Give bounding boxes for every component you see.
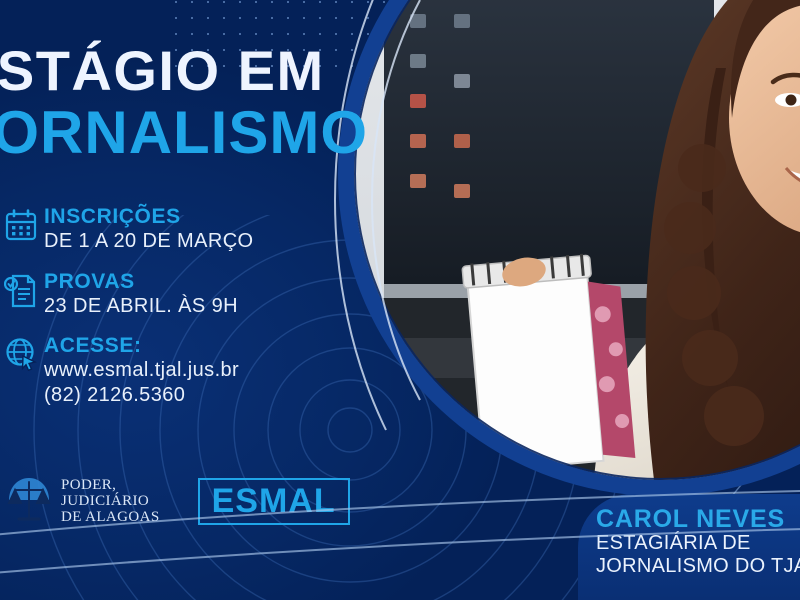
info-item-provas: PROVAS 23 DE ABRIL. ÀS 9H [4,270,344,319]
poder-judiciario-logo: PODER, JUDICIÁRIO DE ALAGOAS [6,476,160,526]
info-item-acesse: ACESSE: www.esmal.tjal.jus.br (82) 2126.… [4,334,344,407]
exam-document-icon [4,270,44,309]
person-role-line-2: JORNALISMO DO TJAL [596,555,800,578]
logo-group: PODER, JUDICIÁRIO DE ALAGOAS ESMAL [6,476,350,526]
person-name: CAROL NEVES [596,506,800,532]
info-subtitle: 23 DE ABRIL. ÀS 9H [44,294,344,318]
info-title: ACESSE: [44,334,344,358]
headline: ESTÁGIO EM JORNALISMO [0,44,478,163]
scales-of-justice-icon [6,476,52,526]
promotional-poster: ESTÁGIO EM JORNALISMO [0,0,800,600]
pj-line-2: JUDICIÁRIO [61,493,160,509]
globe-cursor-icon [4,334,44,371]
info-title: INSCRIÇÕES [44,205,344,229]
esmal-label: ESMAL [212,484,336,518]
info-item-inscricoes: INSCRIÇÕES DE 1 A 20 DE MARÇO [4,205,344,254]
person-name-banner: CAROL NEVES ESTAGIÁRIA DE JORNALISMO DO … [578,494,800,600]
info-list: INSCRIÇÕES DE 1 A 20 DE MARÇO PROVAS 23 … [4,205,344,423]
info-phone[interactable]: (82) 2126.5360 [44,383,344,407]
esmal-logo: ESMAL [198,478,350,525]
calendar-icon [4,205,44,242]
person-role-line-1: ESTAGIÁRIA DE [596,532,800,555]
headline-line-2: JORNALISMO [0,103,478,163]
info-title: PROVAS [44,270,344,294]
pj-line-3: DE ALAGOAS [61,509,160,525]
info-subtitle: DE 1 A 20 DE MARÇO [44,229,344,253]
headline-line-1: ESTÁGIO EM [0,44,478,99]
poder-judiciario-text: PODER, JUDICIÁRIO DE ALAGOAS [61,477,160,526]
pj-line-1: PODER, [61,477,160,493]
info-website[interactable]: www.esmal.tjal.jus.br [44,358,344,382]
